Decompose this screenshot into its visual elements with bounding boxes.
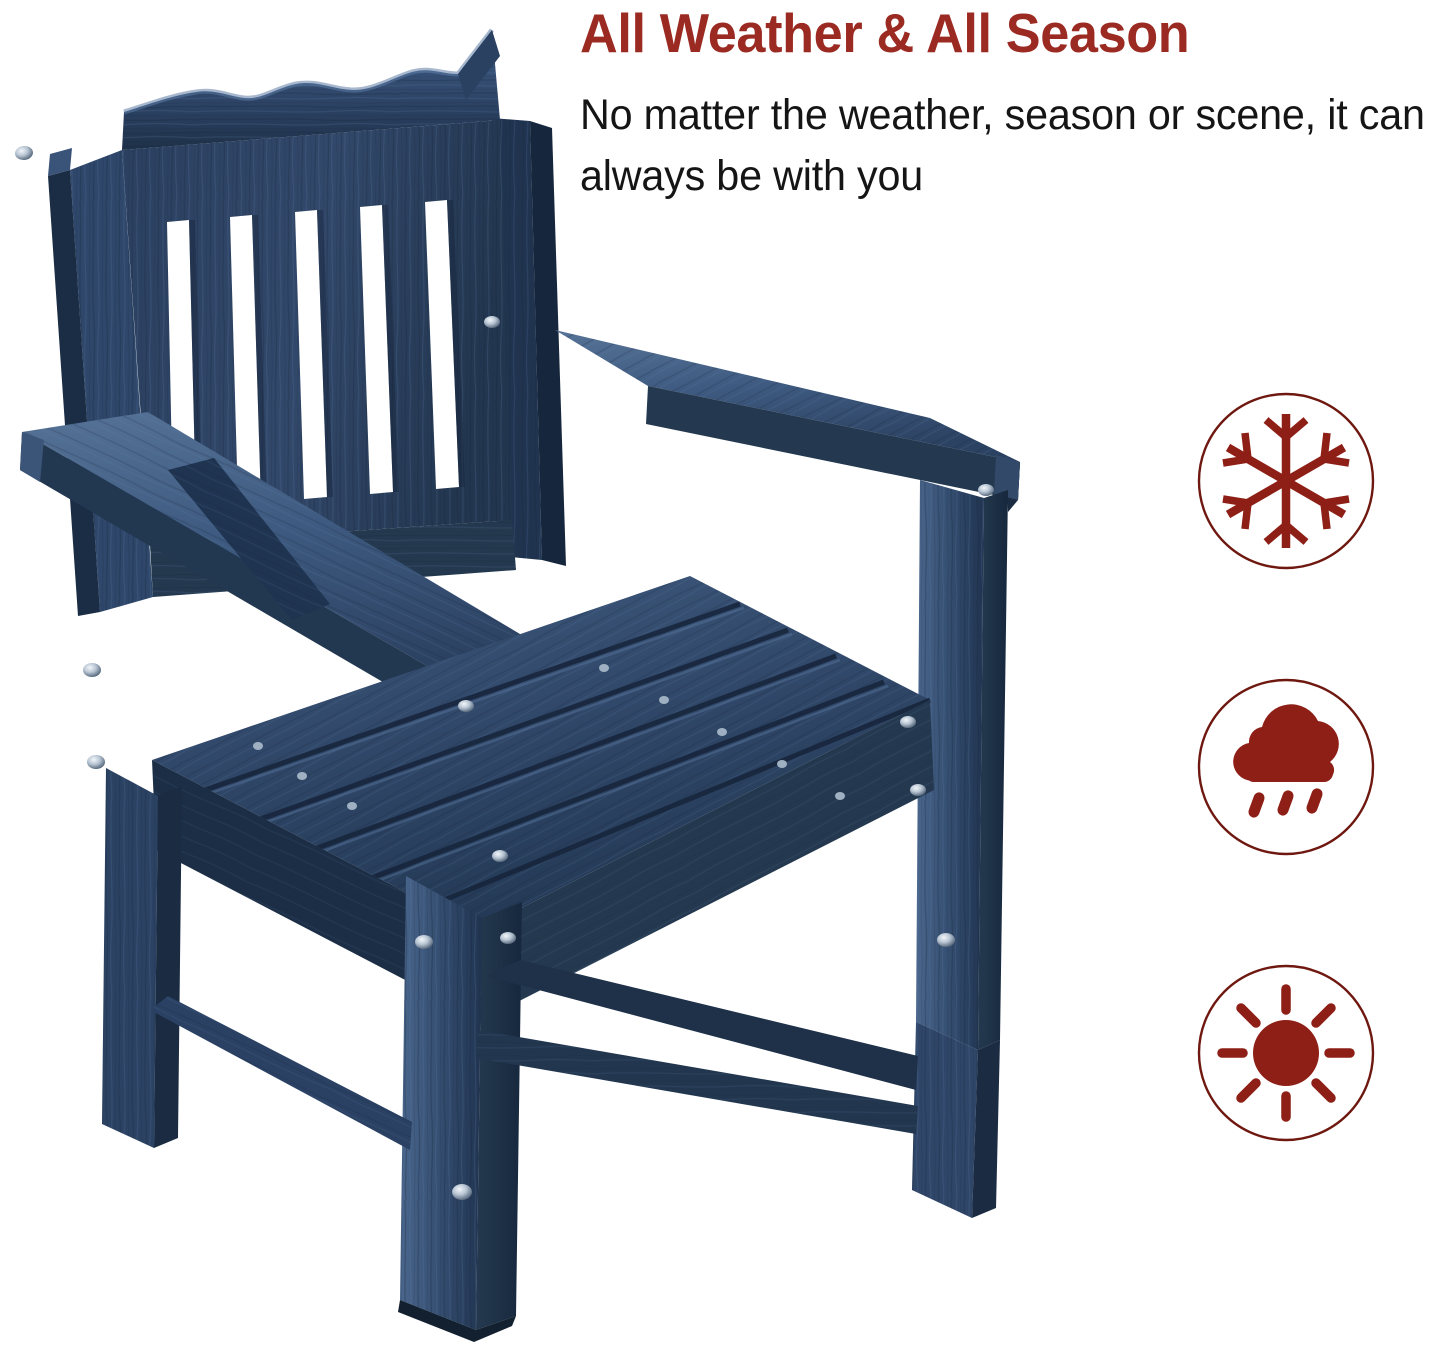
marketing-copy: All Weather & All Season No matter the w… — [580, 6, 1445, 207]
snowflake-icon — [1195, 390, 1377, 572]
rain-cloud-icon — [1195, 676, 1377, 858]
page-title: All Weather & All Season — [580, 6, 1402, 61]
product-marketing-image: All Weather & All Season No matter the w… — [0, 0, 1445, 1358]
sun-icon — [1195, 962, 1377, 1144]
page-subtitle: No matter the weather, season or scene, … — [580, 61, 1444, 207]
chair-seat — [152, 576, 934, 1020]
weather-feature-list — [1195, 390, 1395, 1248]
